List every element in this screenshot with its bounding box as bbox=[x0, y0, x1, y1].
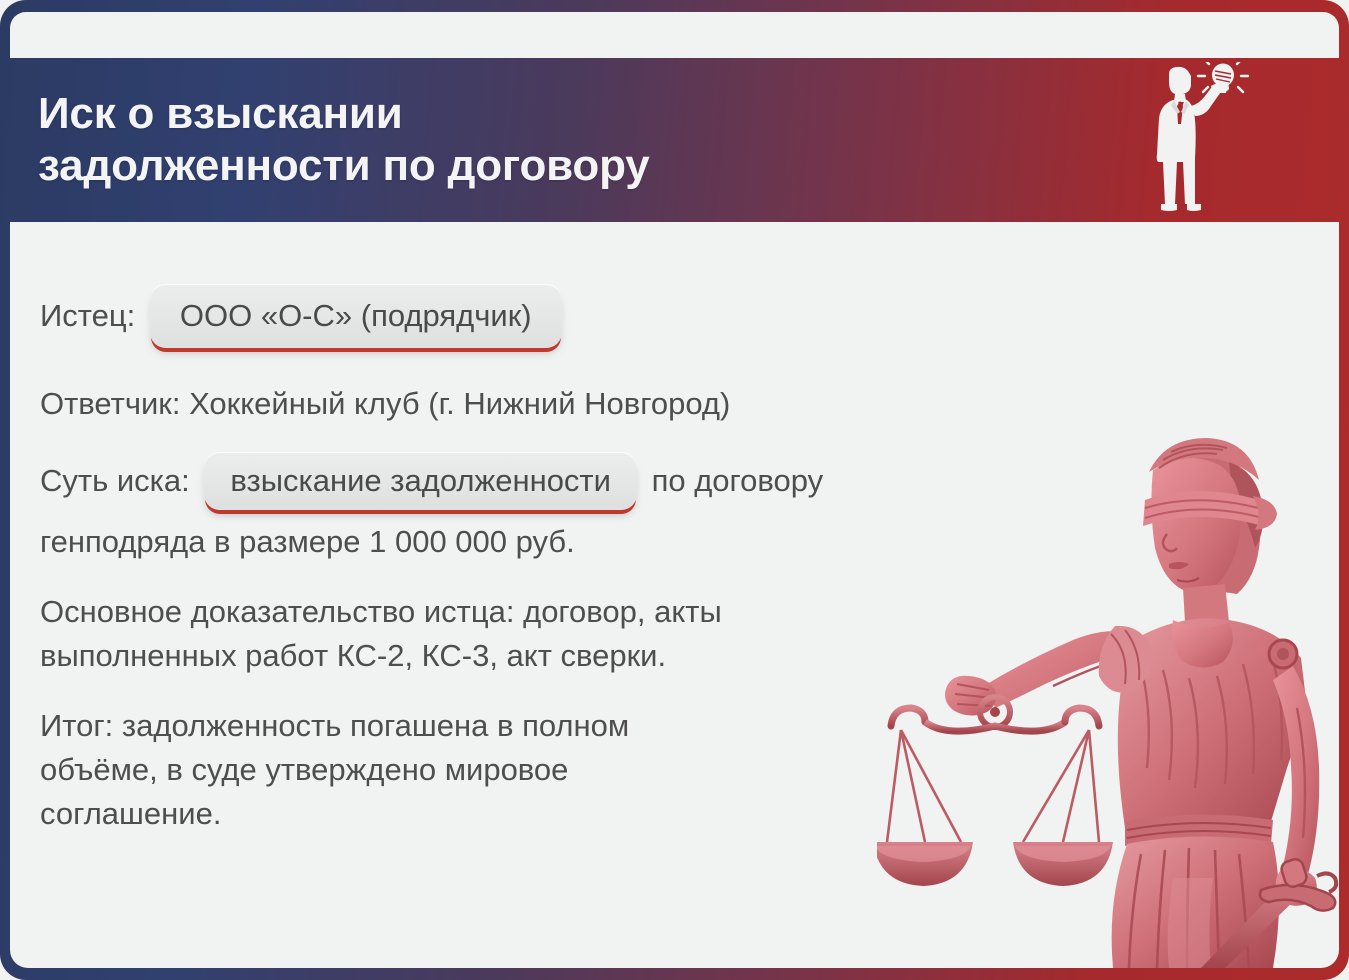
header-bar: Иск о взыскании задолженности по договор… bbox=[10, 58, 1339, 222]
defendant-row: Ответчик: Хоккейный клуб (г. Нижний Новг… bbox=[40, 382, 1030, 426]
outcome-row: Итог: задолженность погашена в полном об… bbox=[40, 704, 1030, 836]
essence-row: Суть иска: взыскание задолженности по до… bbox=[40, 452, 1030, 510]
evidence-row: Основное доказательство истца: договор, … bbox=[40, 590, 1030, 678]
essence-label: Суть иска: bbox=[40, 463, 190, 498]
claimant-value-pill[interactable]: ООО «О-С» (подрядчик) bbox=[150, 284, 562, 348]
essence-amount-row: генподряда в размере 1 000 000 руб. bbox=[40, 520, 1030, 564]
top-notch-band bbox=[10, 12, 1339, 58]
claimant-row: Истец: ООО «О-С» (подрядчик) bbox=[40, 284, 1030, 348]
case-details: Истец: ООО «О-С» (подрядчик) Ответчик: Х… bbox=[40, 284, 1030, 858]
content-card: Истец: ООО «О-С» (подрядчик) Ответчик: Х… bbox=[10, 222, 1339, 968]
essence-value-pill[interactable]: взыскание задолженности bbox=[204, 452, 637, 510]
essence-tail-text: по договору bbox=[652, 463, 824, 498]
page-title: Иск о взыскании задолженности по договор… bbox=[38, 88, 649, 192]
businessman-with-lightbulb-icon bbox=[1139, 62, 1249, 214]
claimant-label: Истец: bbox=[40, 298, 135, 333]
sword bbox=[1201, 857, 1336, 968]
slide-root: Иск о взыскании задолженности по договор… bbox=[0, 0, 1349, 980]
